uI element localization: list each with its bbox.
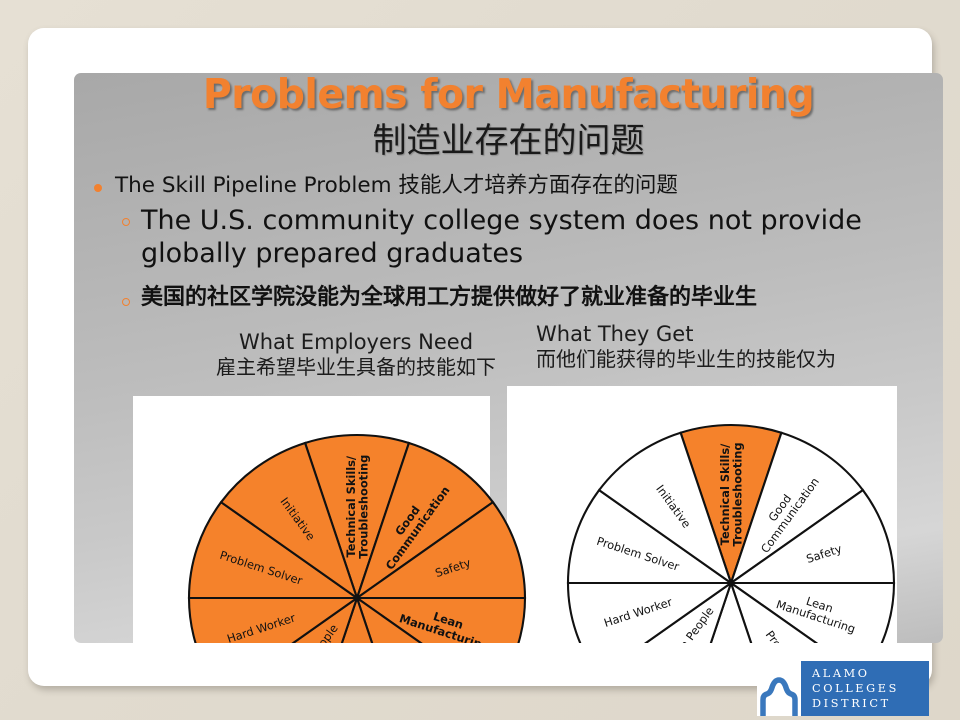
- chart-heading-left: What Employers Need 雇主希望毕业生具备的技能如下: [166, 331, 546, 379]
- page-title-chinese: 制造业存在的问题: [74, 113, 943, 162]
- chart-heading-left-english: What Employers Need: [166, 331, 546, 355]
- bullet-hollow-dot-icon: [122, 298, 130, 306]
- chart-heading-right-english: What They Get: [536, 323, 936, 347]
- bullet-hollow-dot-icon: [122, 218, 130, 226]
- pie-chart-right-svg: Technical Skills/TroubleshootingGoodComm…: [561, 421, 901, 643]
- chart-heading-right: What They Get 而他们能获得的毕业生的技能仅为: [536, 323, 936, 371]
- bullet-level1: The Skill Pipeline Problem 技能人才培养方面存在的问题: [94, 173, 934, 199]
- bullet-level2-b: 美国的社区学院没能为全球用工方提供做好了就业准备的毕业生: [122, 285, 943, 311]
- pie-chart-what-they-get: Technical Skills/TroubleshootingGoodComm…: [561, 421, 901, 643]
- bullet-level2-a: The U.S. community college system does n…: [122, 205, 943, 271]
- slide-surface: Problems for Manufacturing 制造业存在的问题 The …: [74, 73, 943, 643]
- pie-slice-label: Technical Skills/Troubleshooting: [718, 443, 745, 547]
- alamo-arch-icon: [757, 661, 801, 716]
- svg-text:Technical Skills/Troubleshooti: Technical Skills/Troubleshooting: [344, 455, 371, 559]
- slide-page: Problems for Manufacturing 制造业存在的问题 The …: [0, 0, 960, 720]
- pie-chart-left-svg: Technical Skills/TroubleshootingGoodComm…: [182, 431, 532, 643]
- bullet-dot-icon: [94, 184, 102, 192]
- logo-wordmark: ALAMO COLLEGES DISTRICT: [801, 661, 929, 716]
- chart-heading-left-chinese: 雇主希望毕业生具备的技能如下: [166, 355, 546, 379]
- pie-slice-label: Technical Skills/Troubleshooting: [344, 455, 371, 559]
- bullet-level2-a-text: The U.S. community college system does n…: [141, 205, 911, 271]
- slide-card: Problems for Manufacturing 制造业存在的问题 The …: [28, 28, 932, 686]
- logo-line-2: COLLEGES: [812, 681, 929, 696]
- pie-chart-what-employers-need: Technical Skills/TroubleshootingGoodComm…: [182, 431, 532, 643]
- arch-shape-icon: [757, 672, 801, 716]
- logo-line-3: DISTRICT: [812, 696, 929, 711]
- alamo-colleges-district-logo: ALAMO COLLEGES DISTRICT: [757, 661, 929, 716]
- bullet-level1-text: The Skill Pipeline Problem 技能人才培养方面存在的问题: [115, 173, 678, 199]
- bullet-level2-b-text: 美国的社区学院没能为全球用工方提供做好了就业准备的毕业生: [141, 285, 757, 311]
- page-title-english: Problems for Manufacturing: [91, 73, 925, 118]
- chart-heading-right-chinese: 而他们能获得的毕业生的技能仅为: [536, 347, 936, 371]
- svg-text:Technical Skills/Troubleshooti: Technical Skills/Troubleshooting: [718, 443, 745, 547]
- logo-line-1: ALAMO: [812, 666, 929, 681]
